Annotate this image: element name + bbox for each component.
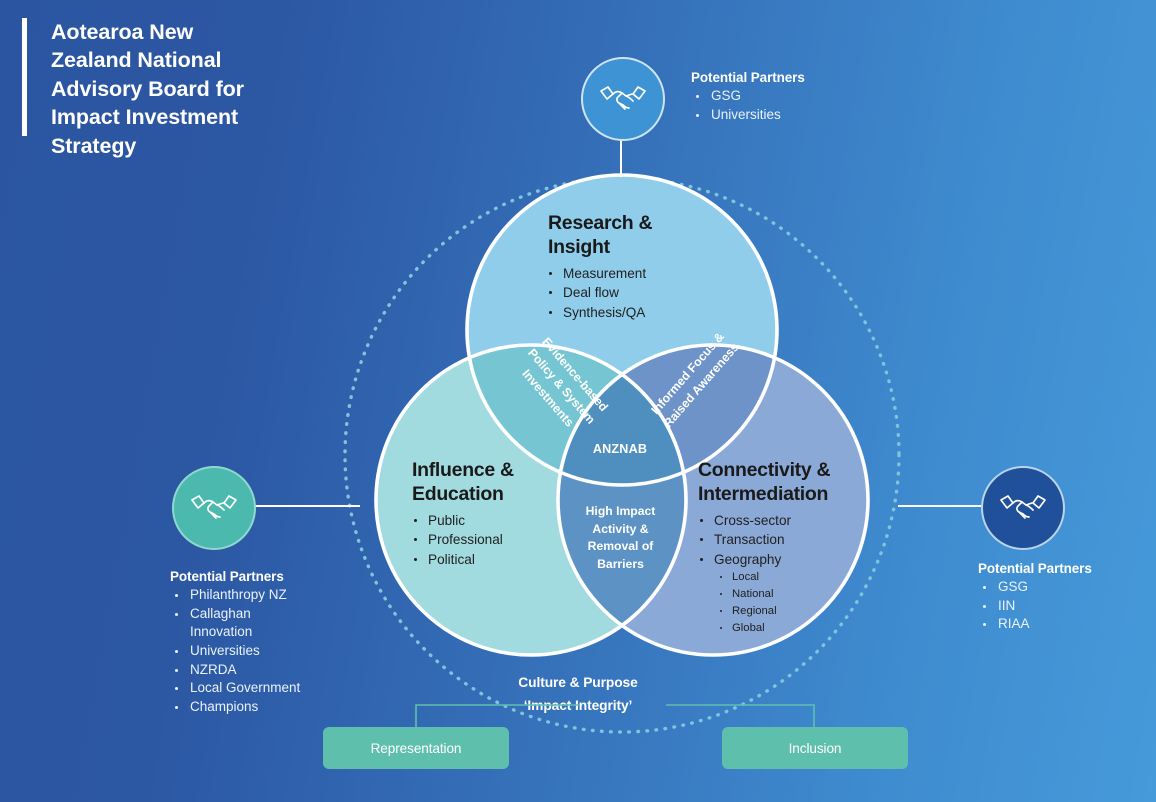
handshake-node-top[interactable] xyxy=(581,57,665,141)
circle-research-list: Measurement Deal flow Synthesis/QA xyxy=(545,264,646,322)
overlap-label-bottom: High Impact Activity & Removal of Barrie… xyxy=(572,503,669,573)
list-item: IIN xyxy=(978,597,1092,616)
partners-right-list: GSG IIN RIAA xyxy=(978,578,1092,634)
circle-influence-title: Influence & Education xyxy=(412,459,514,507)
partners-top: Potential Partners GSG Universities xyxy=(691,70,805,124)
list-item: Professional xyxy=(410,530,503,549)
title-accent-bar xyxy=(22,18,27,136)
list-item: Innovation xyxy=(170,623,300,642)
list-item: Synthesis/QA xyxy=(545,303,646,322)
list-item: Public xyxy=(410,511,503,530)
list-item: Cross-sector xyxy=(696,511,791,530)
overlap-label-right: Informed Focus & Raised Awareness xyxy=(639,319,751,440)
culture-subheading: ‘Impact Integrity’ xyxy=(0,698,1156,713)
circle-connectivity-list: Cross-sector Transaction Geography Local… xyxy=(696,511,791,637)
circle-research-title: Research & Insight xyxy=(548,212,652,260)
overlap-label-left: Evidence-based Policy & System Investmen… xyxy=(498,320,624,453)
handshake-icon xyxy=(1000,493,1046,523)
partners-left-heading: Potential Partners xyxy=(170,569,300,584)
list-item: Global xyxy=(696,620,791,637)
handshake-icon xyxy=(600,84,646,114)
diagram-canvas: Aotearoa New Zealand National Advisory B… xyxy=(0,0,1156,802)
list-item: RIAA xyxy=(978,615,1092,634)
handshake-node-left[interactable] xyxy=(172,466,256,550)
list-item: Deal flow xyxy=(545,283,646,302)
title-text: Aotearoa New Zealand National Advisory B… xyxy=(51,18,244,160)
page-title: Aotearoa New Zealand National Advisory B… xyxy=(22,18,244,160)
connector-right xyxy=(898,505,982,507)
partners-right-heading: Potential Partners xyxy=(978,561,1092,576)
list-item: Local xyxy=(696,569,791,586)
pill-inclusion[interactable]: Inclusion xyxy=(722,727,908,769)
list-item: Regional xyxy=(696,603,791,620)
list-item: GSG xyxy=(978,578,1092,597)
partners-top-heading: Potential Partners xyxy=(691,70,805,85)
list-item: Measurement xyxy=(545,264,646,283)
partners-top-list: GSG Universities xyxy=(691,87,805,124)
culture-purpose-block: Culture & Purpose ‘Impact Integrity’ xyxy=(0,675,1156,713)
pill-representation[interactable]: Representation xyxy=(323,727,509,769)
list-item: Callaghan xyxy=(170,605,300,624)
culture-heading: Culture & Purpose xyxy=(0,675,1156,690)
circle-connectivity-title: Connectivity & Intermediation xyxy=(698,459,830,507)
list-item: National xyxy=(696,586,791,603)
connector-left xyxy=(252,505,360,507)
list-item: Universities xyxy=(691,106,805,125)
circle-influence-list: Public Professional Political xyxy=(410,511,503,569)
list-item: Universities xyxy=(170,642,300,661)
handshake-icon xyxy=(191,493,237,523)
connector-top xyxy=(620,135,622,177)
partners-right: Potential Partners GSG IIN RIAA xyxy=(978,561,1092,634)
list-item: Philanthropy NZ xyxy=(170,586,300,605)
list-item: Political xyxy=(410,550,503,569)
handshake-node-right[interactable] xyxy=(981,466,1065,550)
list-item: Geography xyxy=(696,550,791,569)
list-item: GSG xyxy=(691,87,805,106)
overlap-label-center: ANZNAB xyxy=(570,442,670,456)
list-item: Transaction xyxy=(696,530,791,549)
